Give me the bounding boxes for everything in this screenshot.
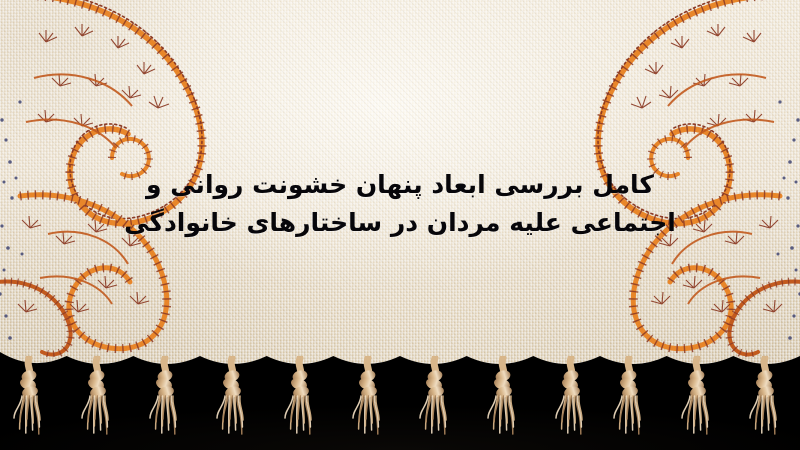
tassel bbox=[148, 356, 182, 448]
tassel bbox=[612, 356, 646, 448]
tassel-skirt bbox=[750, 396, 776, 434]
tassel-fringe bbox=[0, 356, 800, 450]
tassel-skirt bbox=[614, 396, 640, 434]
title-card: کامل بررسی ابعاد پنهان خشونت روانی و اجت… bbox=[0, 0, 800, 450]
tassel bbox=[215, 356, 249, 448]
tassel-skirt bbox=[420, 396, 446, 434]
tassel-skirt bbox=[14, 396, 40, 434]
tassel bbox=[283, 356, 317, 448]
tassel bbox=[554, 356, 588, 448]
tassel bbox=[351, 356, 385, 448]
tassel-skirt bbox=[488, 396, 514, 434]
tassel bbox=[80, 356, 114, 448]
tassel-skirt bbox=[150, 396, 176, 434]
tassel-skirt bbox=[82, 396, 108, 434]
tassel-skirt bbox=[682, 396, 708, 434]
tassel bbox=[680, 356, 714, 448]
tassel-skirt bbox=[353, 396, 379, 434]
tassel-skirt bbox=[556, 396, 582, 434]
title-line-2: اجتماعی علیه مردان در ساختارهای خانوادگی bbox=[0, 204, 800, 242]
tassel bbox=[12, 356, 46, 448]
title-line-1: کامل بررسی ابعاد پنهان خشونت روانی و bbox=[0, 166, 800, 204]
tassel bbox=[418, 356, 452, 448]
slide-title: کامل بررسی ابعاد پنهان خشونت روانی و اجت… bbox=[0, 166, 800, 242]
tassel-skirt bbox=[285, 396, 311, 434]
tassel bbox=[748, 356, 782, 448]
tassel bbox=[486, 356, 520, 448]
tassel-skirt bbox=[217, 396, 243, 434]
